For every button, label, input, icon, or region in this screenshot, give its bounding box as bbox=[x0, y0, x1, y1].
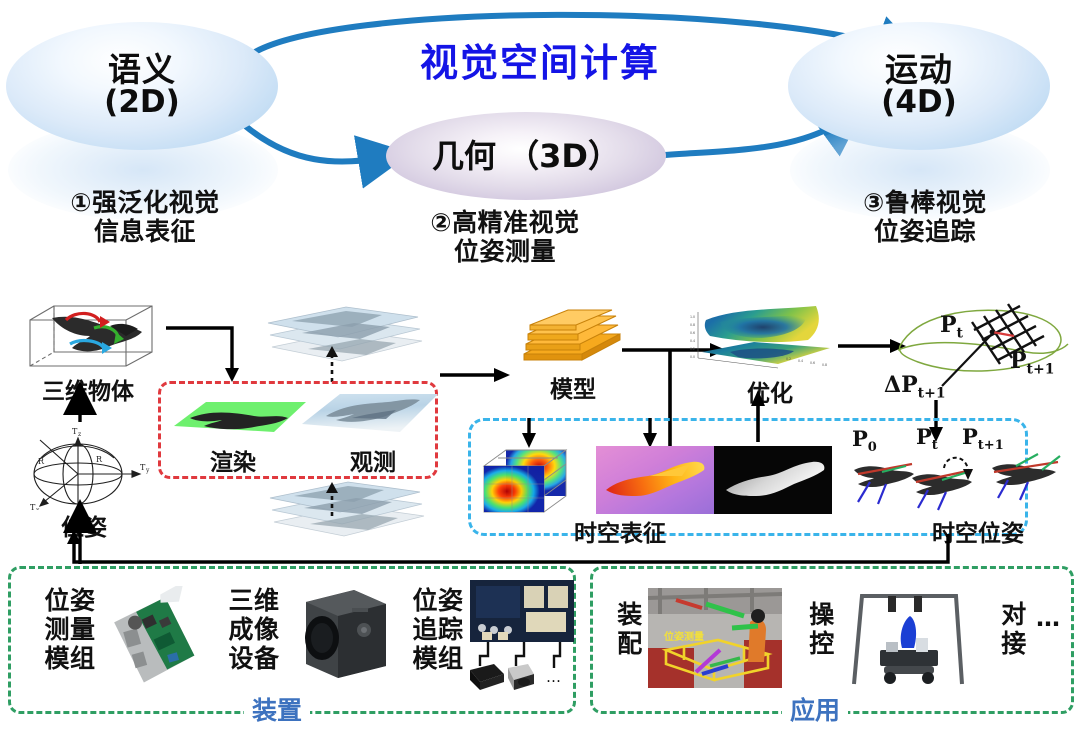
page-title: 视觉空间计算 bbox=[360, 32, 720, 87]
caption-two-line1: ②高精准视觉 bbox=[360, 208, 650, 237]
render-thumbnail bbox=[170, 392, 310, 444]
svg-text:R: R bbox=[38, 457, 45, 466]
assembly-scene-image: 位姿测量 bbox=[648, 588, 782, 688]
label-p0: P0 bbox=[852, 426, 877, 455]
caption-three: ③鲁棒视觉 位姿追踪 bbox=[800, 188, 1050, 247]
teleoperation-rig-image bbox=[846, 586, 972, 690]
dotted-arrow-up bbox=[318, 344, 348, 384]
label-delta-p: ΔPt+1 bbox=[884, 372, 946, 401]
label-pose-pt: Pt bbox=[916, 424, 938, 453]
pose-measurement-module-image bbox=[110, 586, 212, 688]
spatiotemporal-pose-icon bbox=[848, 444, 1064, 518]
three-d-object-icon bbox=[14, 296, 169, 376]
geometry-label: 几何 （3D） bbox=[432, 140, 620, 173]
svg-text:0.8: 0.8 bbox=[822, 363, 827, 367]
svg-text:0.4: 0.4 bbox=[690, 339, 695, 343]
caption-three-line1: ③鲁棒视觉 bbox=[800, 188, 1050, 217]
arrow-render-to-model bbox=[438, 360, 518, 390]
model-icon bbox=[518, 308, 628, 374]
caption-one-line2: 信息表征 bbox=[20, 217, 270, 246]
semantics-dim: (2D) bbox=[104, 87, 180, 119]
app-3-text: 对 接 bbox=[988, 600, 1040, 658]
svg-text:0.0: 0.0 bbox=[690, 355, 695, 359]
node-motion[interactable]: 运动 (4D) bbox=[788, 22, 1050, 150]
feature-volume-icon bbox=[478, 444, 574, 520]
svg-text:0.4: 0.4 bbox=[798, 359, 803, 363]
app-2-line1: 操 bbox=[796, 600, 848, 629]
assembly-overlay-text: 位姿测量 bbox=[664, 630, 704, 643]
optimize-surface-icon: 1.00.80.6 0.40.20.0 0.20.40.6 0.8 bbox=[690, 302, 840, 378]
svg-text:0.8: 0.8 bbox=[690, 323, 695, 327]
caption-one: ①强泛化视觉 信息表征 bbox=[20, 188, 270, 247]
observe-thumbnail bbox=[300, 388, 440, 442]
svg-text:…: … bbox=[546, 668, 561, 686]
apps-label: 应用 bbox=[782, 698, 848, 723]
devices-label: 装置 bbox=[244, 698, 310, 723]
app-2-text: 操 控 bbox=[796, 600, 848, 658]
device-1-line1: 位姿 bbox=[28, 586, 112, 615]
app-3-line1: 对 bbox=[988, 600, 1040, 629]
svg-text:0.6: 0.6 bbox=[810, 361, 815, 365]
app-2-line2: 控 bbox=[796, 629, 848, 658]
caption-two: ②高精准视觉 位姿测量 bbox=[360, 208, 650, 267]
svg-text:0.6: 0.6 bbox=[690, 331, 695, 335]
app-3-line2: 接 bbox=[988, 629, 1040, 658]
node-semantics[interactable]: 语义 (2D) bbox=[6, 22, 278, 150]
arrow-feature-to-optimize bbox=[744, 384, 774, 446]
depth-image bbox=[714, 446, 832, 514]
pose-tracking-module-image: … bbox=[468, 578, 576, 710]
label-render: 渲染 bbox=[178, 443, 288, 477]
semantics-label: 语义 bbox=[108, 53, 176, 87]
label-p-t1: Pt+1 bbox=[1010, 348, 1055, 377]
caption-two-line2: 位姿测量 bbox=[360, 237, 650, 266]
diagram-root: 语义 (2D) 运动 (4D) 几何 （3D） 视觉空间计算 ①强泛化视觉 信息… bbox=[0, 0, 1080, 753]
caption-three-line2: 位姿追踪 bbox=[800, 217, 1050, 246]
three-d-imaging-device-image bbox=[292, 580, 394, 688]
device-1-line3: 模组 bbox=[28, 644, 112, 673]
label-model: 模型 bbox=[518, 370, 628, 404]
device-1-line2: 测量 bbox=[28, 615, 112, 644]
arrow-object-to-render bbox=[160, 320, 270, 390]
svg-text:y: y bbox=[145, 467, 150, 474]
apps-ellipsis: … bbox=[1036, 604, 1060, 632]
optical-flow-image bbox=[596, 446, 714, 514]
dotted-arrow-down bbox=[318, 478, 348, 518]
device-2-line2: 成像 bbox=[212, 615, 296, 644]
label-p-t: Pt bbox=[940, 312, 963, 341]
device-module-2-text: 三维 成像 设备 bbox=[212, 586, 296, 673]
device-2-line3: 设备 bbox=[212, 644, 296, 673]
label-pose-pt1: Pt+1 bbox=[962, 424, 1004, 453]
device-2-line1: 三维 bbox=[212, 586, 296, 615]
motion-dim: (4D) bbox=[881, 87, 957, 119]
svg-text:0.2: 0.2 bbox=[786, 357, 791, 361]
node-geometry[interactable]: 几何 （3D） bbox=[386, 112, 666, 200]
svg-text:1.0: 1.0 bbox=[690, 315, 695, 319]
svg-text:0.2: 0.2 bbox=[690, 347, 695, 351]
device-module-1-text: 位姿 测量 模组 bbox=[28, 586, 112, 673]
caption-one-line1: ①强泛化视觉 bbox=[20, 188, 270, 217]
motion-label: 运动 bbox=[885, 53, 953, 87]
arrow-into-flow bbox=[636, 416, 666, 450]
label-observe: 观测 bbox=[318, 443, 428, 477]
